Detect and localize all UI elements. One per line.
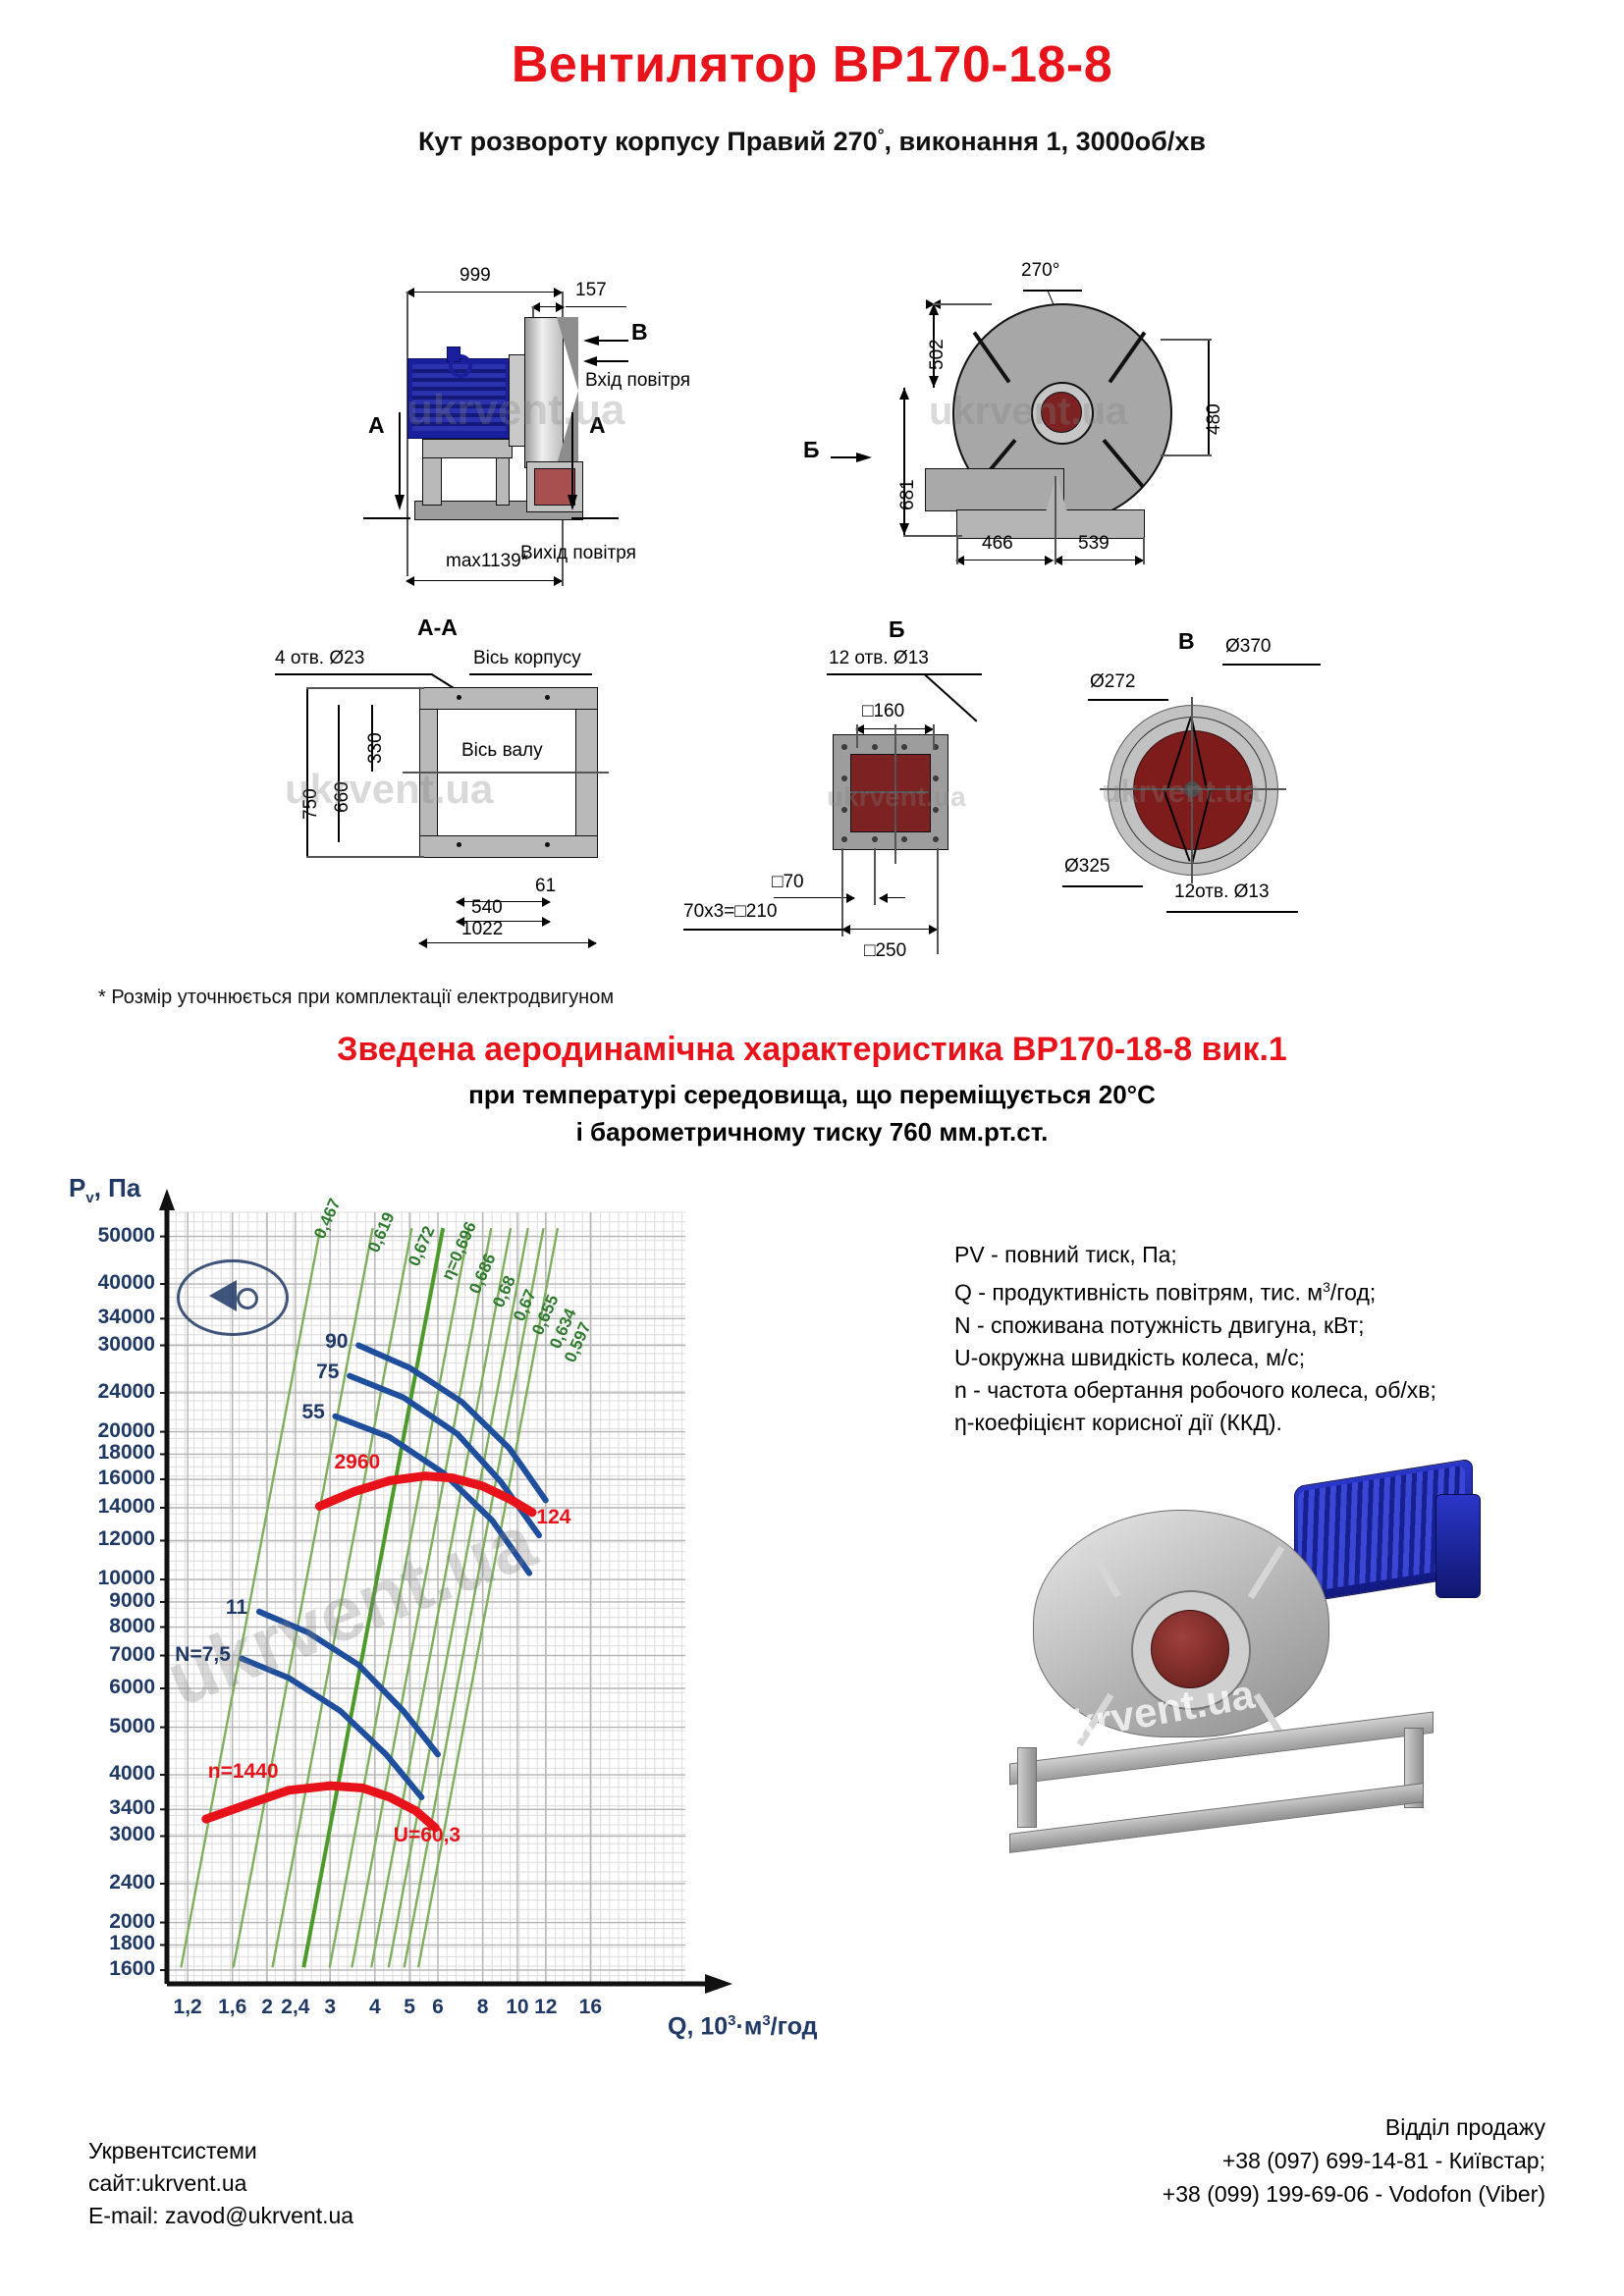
dim-999: 999 bbox=[460, 265, 491, 287]
page-subtitle: Кут розвороту корпусу Правий 270°, викон… bbox=[0, 126, 1624, 157]
section-marker-A-left-label: A bbox=[368, 412, 385, 439]
footer-site: сайт:ukrvent.ua bbox=[88, 2167, 353, 2200]
annotation-0: 2960 bbox=[334, 1451, 380, 1474]
power-label-N=7,5: N=7,5 bbox=[175, 1643, 231, 1667]
dim-681: 681 bbox=[897, 479, 919, 510]
view-V-drawing: В Ø370 Ø272 Ø325 12отв. Ø13 ukrvent.ua bbox=[1041, 628, 1394, 933]
footer-company-name: Укрвентсистеми bbox=[88, 2135, 353, 2167]
dim-160: □160 bbox=[862, 701, 904, 722]
view-arrow-V bbox=[583, 336, 628, 346]
footer-email: E-mail: zavod@ukrvent.ua bbox=[88, 2200, 353, 2232]
dim-750-line bbox=[306, 687, 308, 856]
chart-subtitle-1: при температурі середовища, що переміщує… bbox=[0, 1080, 1624, 1110]
aerodynamic-chart: Pv, Па Q, 103·м3/год 5000040000340003000… bbox=[39, 1173, 903, 2027]
view-arrow-B bbox=[831, 453, 876, 462]
air-inlet-arrow bbox=[583, 356, 628, 366]
annotation-1: 124 bbox=[536, 1506, 570, 1529]
dim-660-line bbox=[338, 705, 340, 842]
view-marker-B: Б bbox=[803, 437, 820, 463]
callout-325: Ø325 bbox=[1064, 856, 1110, 878]
datasheet-page: Вентилятор ВР170-18-8 Кут розвороту корп… bbox=[0, 0, 1624, 2296]
view-marker-B-label: Б bbox=[803, 437, 820, 463]
air-outlet-label: Вихід повітря bbox=[520, 543, 636, 564]
section-frame-bottom bbox=[419, 834, 598, 858]
dim-502: 502 bbox=[927, 339, 948, 370]
chart-subtitle-2: і барометричному тиску 760 мм.рт.ст. bbox=[0, 1117, 1624, 1148]
legend-line-3: U-окружна швидкість колеса, м/с; bbox=[954, 1342, 1436, 1374]
dim-250: □250 bbox=[864, 940, 906, 962]
photo-inlet-cone bbox=[1151, 1610, 1229, 1688]
footer-company-block: Укрвентсистеми сайт:ukrvent.ua E-mail: z… bbox=[88, 2135, 353, 2232]
flange-hole-B-5 bbox=[841, 775, 847, 781]
flange-hole-B-8 bbox=[933, 807, 939, 813]
callout-12-holes-B: 12 отв. Ø13 bbox=[829, 648, 929, 669]
x-axis-arrow bbox=[705, 1974, 732, 1994]
fan-pedestal bbox=[422, 439, 513, 458]
dim-270deg: 270° bbox=[1021, 260, 1059, 282]
page-title: Вентилятор ВР170-18-8 bbox=[0, 35, 1624, 94]
dim-480: 480 bbox=[1204, 403, 1225, 435]
dim-1022: 1022 bbox=[461, 919, 503, 940]
legend-line-1: Q - продуктивність повітрям, тис. м3/год… bbox=[954, 1271, 1436, 1309]
photo-motor-endcap bbox=[1435, 1494, 1481, 1598]
flange-hole-B-10 bbox=[872, 836, 878, 842]
fan-support-left bbox=[422, 453, 442, 506]
callout-axis-case: Вісь корпусу bbox=[473, 648, 581, 669]
air-inlet-label: Вхід повітря bbox=[585, 370, 690, 392]
callout-370: Ø370 bbox=[1225, 636, 1271, 658]
dim-70: □70 bbox=[772, 872, 804, 893]
subtitle-part-a: Кут розвороту корпусу Правий 270 bbox=[418, 127, 878, 156]
photo-frame-base bbox=[1009, 1783, 1424, 1853]
dim-540: 540 bbox=[471, 897, 503, 919]
footer-sales-title: Відділ продажу bbox=[1163, 2110, 1545, 2144]
power-label-75: 75 bbox=[316, 1361, 339, 1384]
dim-210: 70х3=□210 bbox=[683, 901, 777, 923]
chart-legend: PV - повний тиск, Па;Q - продуктивність … bbox=[954, 1239, 1436, 1439]
view-B-drawing: Б 12 отв. Ø13 □160 □70 70х3=□210 □ bbox=[687, 618, 1001, 972]
callout-272: Ø272 bbox=[1090, 671, 1135, 693]
callout-12-holes-V: 12отв. Ø13 bbox=[1174, 881, 1270, 903]
annotation-2: n=1440 bbox=[208, 1760, 279, 1784]
dim-max1139: max1139* bbox=[446, 551, 528, 572]
dim-466: 466 bbox=[982, 533, 1013, 555]
y-axis-arrow bbox=[159, 1189, 175, 1210]
legend-line-0: PV - повний тиск, Па; bbox=[954, 1239, 1436, 1271]
view-marker-V: В bbox=[631, 319, 648, 346]
dim-750: 750 bbox=[300, 788, 322, 820]
footer-phone-2[interactable]: +38 (099) 199-69-06 - Vodofon (Viber) bbox=[1163, 2177, 1545, 2211]
flange-hole-B-6 bbox=[933, 775, 939, 781]
power-curves bbox=[242, 1346, 545, 1797]
section-marker-A-right: A bbox=[589, 412, 606, 439]
dim-480-line bbox=[1208, 339, 1210, 456]
section-arrow-A-left bbox=[395, 412, 405, 510]
section-AA-title: А-А bbox=[417, 614, 458, 641]
power-label-55: 55 bbox=[301, 1401, 324, 1424]
dim-330: 330 bbox=[365, 732, 387, 764]
legend-line-4: n - частота обертання робочого колеса, о… bbox=[954, 1374, 1436, 1407]
dim-681-line bbox=[903, 388, 905, 535]
legend-line-2: N - споживана потужність двигуна, кВт; bbox=[954, 1309, 1436, 1342]
flange-hole-B-7 bbox=[841, 807, 847, 813]
outlet-duct-B bbox=[850, 754, 931, 832]
photo-frame-leg-left bbox=[1017, 1747, 1037, 1828]
callout-4-holes: 4 отв. Ø23 bbox=[275, 648, 364, 669]
power-label-90: 90 bbox=[325, 1330, 348, 1354]
dim-61: 61 bbox=[535, 876, 556, 897]
section-frame-top bbox=[419, 687, 598, 711]
fan-hub-ring-inner bbox=[1041, 392, 1082, 433]
flange-hole-B-11 bbox=[901, 836, 907, 842]
flange-hole-B-9 bbox=[841, 836, 847, 842]
chart-title: Зведена аеродинамічна характеристика ВР1… bbox=[0, 1031, 1624, 1069]
section-marker-A-left: A bbox=[368, 412, 385, 439]
dim-660: 660 bbox=[332, 781, 353, 813]
side-view-drawing: 270° 502 681 480 466 bbox=[913, 260, 1237, 584]
side-pedestal bbox=[1039, 474, 1074, 537]
hole-tl bbox=[457, 695, 461, 700]
front-view-drawing: 999 157 В Вхід п bbox=[393, 260, 805, 584]
flange-hole-B-2 bbox=[872, 744, 878, 750]
chart-canvas bbox=[39, 1173, 903, 2027]
section-AA-drawing: А-А 4 отв. Ø23 Вісь корпусу Вісь валу 75… bbox=[295, 618, 707, 972]
dimension-footnote: * Розмір уточнюється при комплектації ел… bbox=[98, 987, 614, 1009]
subtitle-part-b: , виконання 1, 3000об/хв bbox=[885, 127, 1206, 156]
hole-bl bbox=[457, 842, 461, 847]
callout-axis-shaft: Вісь валу bbox=[461, 740, 543, 762]
dim-157: 157 bbox=[575, 280, 607, 301]
view-V-title: В bbox=[1178, 628, 1195, 655]
fan-casing-taper bbox=[557, 317, 578, 391]
section-arrow-A-right bbox=[568, 412, 577, 510]
hole-tr bbox=[545, 695, 550, 700]
section-marker-A-right-label: A bbox=[589, 412, 606, 439]
view-B-title: Б bbox=[889, 616, 905, 643]
company-stamp bbox=[177, 1259, 289, 1336]
shaft-eye bbox=[449, 354, 472, 378]
hole-br bbox=[545, 842, 550, 847]
flange-hole-B-3 bbox=[901, 744, 907, 750]
annotation-3: U=60,3 bbox=[394, 1824, 460, 1847]
footer-sales-block: Відділ продажу +38 (097) 699-14-81 - Киї… bbox=[1163, 2110, 1545, 2211]
product-photo: ukrvent.ua bbox=[982, 1443, 1492, 1865]
degree-symbol: ° bbox=[878, 126, 885, 144]
view-marker-V-label: В bbox=[631, 319, 648, 346]
footer-phone-1[interactable]: +38 (097) 699-14-81 - Київстар; bbox=[1163, 2144, 1545, 2177]
flange-hole-B-12 bbox=[933, 836, 939, 842]
dim-539: 539 bbox=[1078, 533, 1110, 555]
power-label-11: 11 bbox=[226, 1596, 247, 1620]
legend-line-5: η-коефіцієнт корисної дії (ККД). bbox=[954, 1407, 1436, 1439]
flange-hole-B-1 bbox=[841, 744, 847, 750]
